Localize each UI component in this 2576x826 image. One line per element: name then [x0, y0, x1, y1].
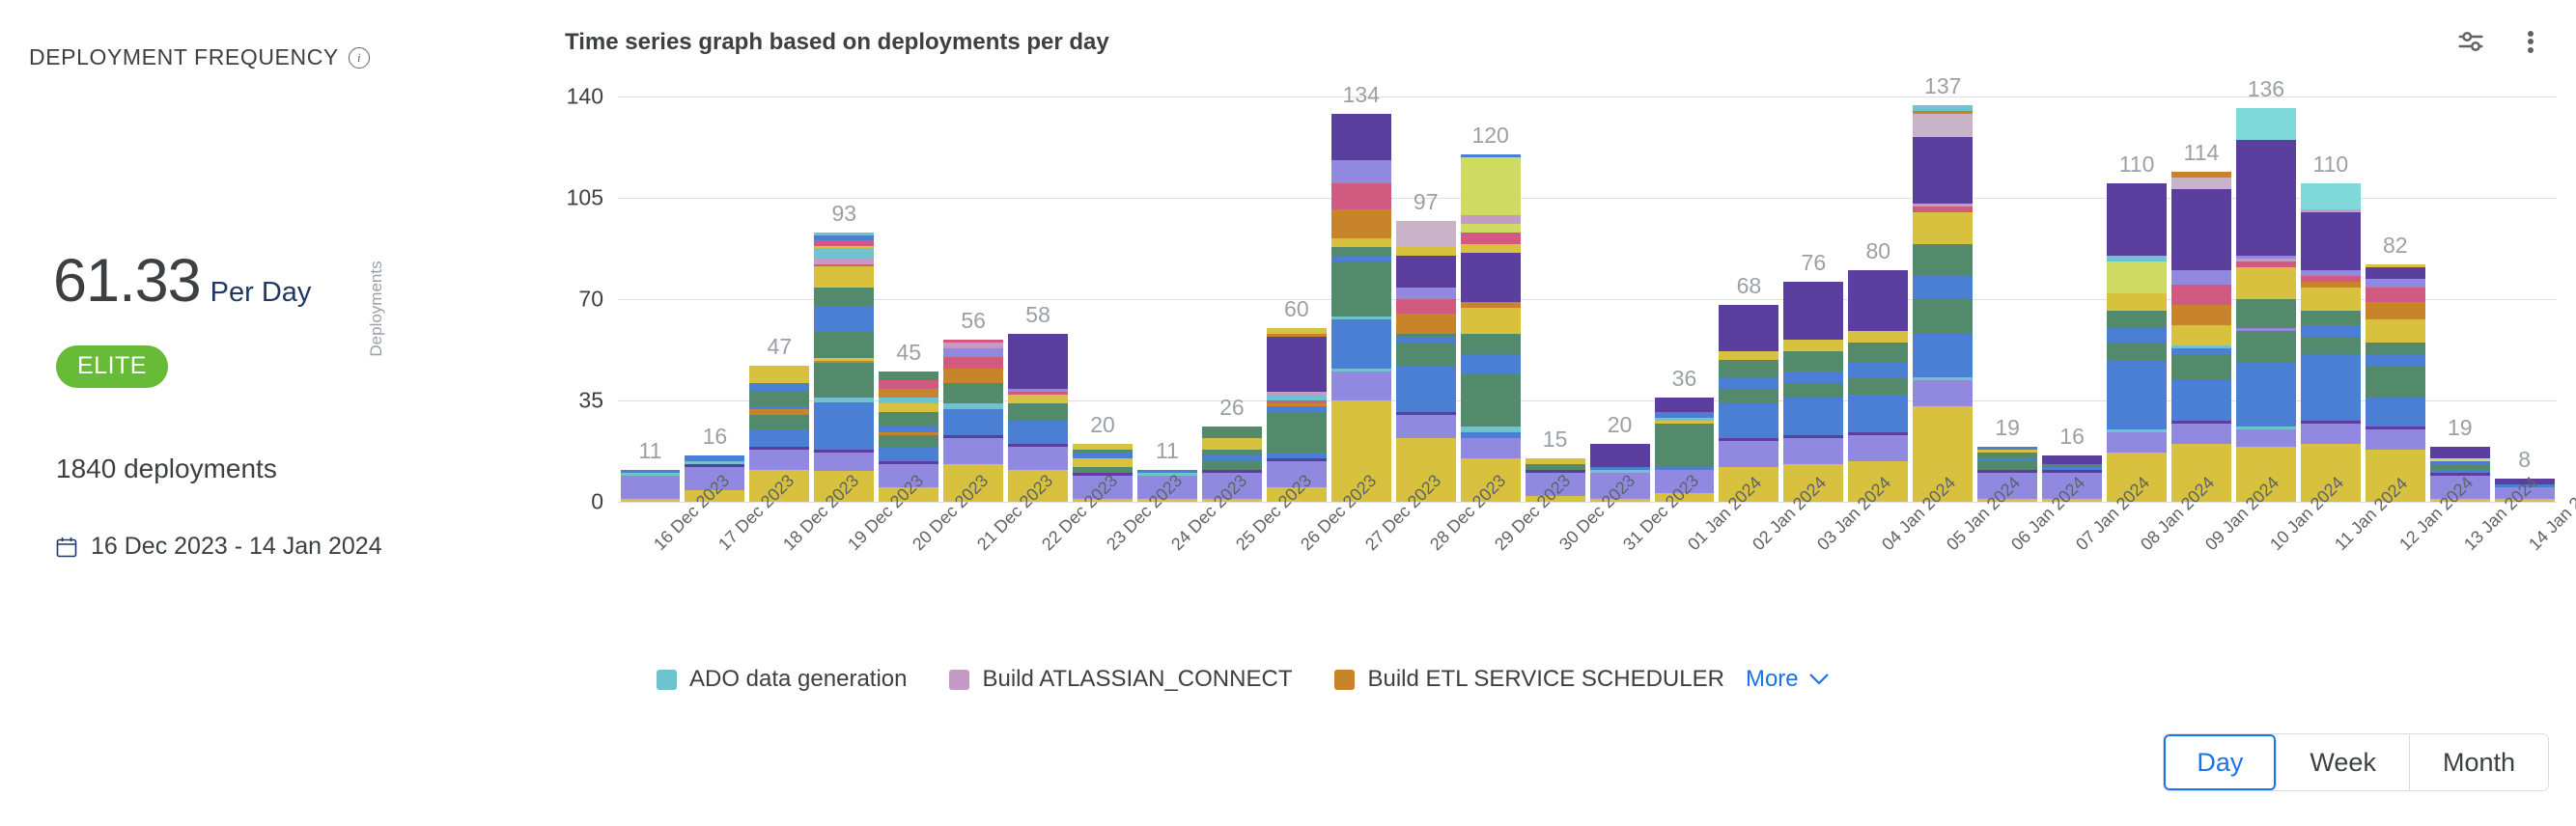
bar-segment: [879, 380, 938, 389]
bar-value-label: 58: [1006, 302, 1071, 328]
bar-segment: [1783, 398, 1843, 435]
bar-segment: [1461, 438, 1521, 458]
stacked-bar[interactable]: [1848, 270, 1908, 502]
legend-item[interactable]: Build ETL SERVICE SCHEDULER: [1334, 666, 1723, 693]
bar-segment: [1267, 412, 1327, 453]
y-axis-tick: 70: [410, 287, 603, 313]
bar-segment: [2107, 293, 2167, 311]
bar-column[interactable]: 137: [1911, 96, 1975, 502]
stacked-bar[interactable]: [621, 470, 681, 502]
bar-segment: [943, 438, 1003, 464]
bar-segment: [1783, 340, 1843, 351]
bar-segment: [2236, 108, 2296, 140]
bar-segment: [2366, 279, 2425, 288]
y-axis-title: Deployments: [367, 106, 386, 511]
bar-segment: [1461, 215, 1521, 224]
bar-value-label: 8: [2492, 447, 2557, 473]
chart-panel: Time series graph based on deployments p…: [541, 0, 2576, 826]
bar-segment: [1396, 221, 1456, 247]
bar-segment: [879, 435, 938, 447]
bar-segment: [1913, 137, 1973, 204]
bar-segment: [1396, 415, 1456, 438]
bar-segment: [2366, 302, 2425, 319]
bar-segment: [2107, 360, 2167, 429]
bar-segment: [1848, 435, 1908, 461]
bar-value-label: 97: [1393, 189, 1458, 215]
legend-label: Build ETL SERVICE SCHEDULER: [1367, 666, 1723, 693]
bar-segment: [2301, 311, 2361, 325]
bar-value-label: 56: [941, 308, 1006, 334]
legend: ADO data generationBuild ATLASSIAN_CONNE…: [657, 666, 1831, 693]
bar-segment: [943, 409, 1003, 435]
bar-value-label: 19: [2427, 415, 2492, 441]
bar-column[interactable]: 8: [2492, 96, 2557, 502]
y-axis-tick: 105: [410, 185, 603, 211]
bar-segment: [2301, 183, 2361, 209]
bar-segment: [2301, 325, 2361, 337]
bar-segment: [1719, 360, 1778, 377]
bar-column[interactable]: 76: [1781, 96, 1846, 502]
range-button-month[interactable]: Month: [2410, 734, 2548, 790]
bar-segment: [1461, 233, 1521, 244]
bar-column[interactable]: 134: [1329, 96, 1393, 502]
bar-column[interactable]: 58: [1006, 96, 1071, 502]
bar-segment: [1783, 383, 1843, 398]
bar-segment: [1008, 421, 1068, 444]
bar-column[interactable]: 68: [1717, 96, 1781, 502]
stacked-bar[interactable]: [2236, 108, 2296, 502]
bar-value-label: 26: [1199, 395, 1264, 421]
bar-value-label: 120: [1458, 123, 1523, 149]
bar-segment: [879, 403, 938, 412]
bar-segment: [749, 450, 809, 470]
page-title: DEPLOYMENT FREQUENCY: [29, 44, 339, 70]
range-button-day[interactable]: Day: [2164, 734, 2277, 790]
bar-segment: [1783, 351, 1843, 372]
bar-segment: [1848, 377, 1908, 395]
bar-column[interactable]: 47: [747, 96, 812, 502]
bar-value-label: 60: [1264, 296, 1329, 322]
bar-segment: [1977, 461, 2037, 470]
bar-value-label: 11: [1135, 438, 1200, 464]
stacked-bar[interactable]: [1396, 221, 1456, 502]
bar-segment: [1073, 458, 1133, 467]
bar-segment: [1590, 444, 1650, 467]
metric-unit: Per Day: [210, 277, 312, 309]
y-axis-tick: 140: [410, 84, 603, 110]
bar-column[interactable]: 45: [877, 96, 941, 502]
bar-segment: [1008, 447, 1068, 470]
bar-segment: [1202, 427, 1262, 438]
bar-segment: [814, 453, 874, 471]
bar-segment: [1913, 244, 1973, 276]
date-range[interactable]: 16 Dec 2023 - 14 Jan 2024: [56, 533, 382, 561]
bar-segment: [2366, 267, 2425, 279]
bar-segment: [2366, 366, 2425, 398]
bar-segment: [2107, 311, 2167, 328]
bar-segment: [2171, 178, 2231, 189]
bar-segment: [2171, 285, 2231, 305]
y-axis-tick: 35: [410, 388, 603, 414]
bar-segment: [1848, 395, 1908, 432]
bar-segment: [1202, 461, 1262, 470]
plot-area: 1116479345565820112660134971201520366876…: [618, 0, 2557, 826]
legend-label: ADO data generation: [689, 666, 907, 693]
bar-column[interactable]: 60: [1264, 96, 1329, 502]
bar-segment: [749, 383, 809, 392]
bar-segment: [1396, 314, 1456, 334]
bar-segment: [879, 447, 938, 461]
bar-column[interactable]: 15: [1523, 96, 1587, 502]
bar-segment: [2366, 288, 2425, 302]
status-badge: ELITE: [56, 345, 168, 388]
bar-segment: [749, 429, 809, 447]
metric-header: DEPLOYMENT FREQUENCY i: [29, 44, 370, 70]
bar-segment: [943, 348, 1003, 357]
bar-segment: [1913, 276, 1973, 299]
bar-segment: [2236, 299, 2296, 328]
bar-segment: [2236, 429, 2296, 447]
bar-segment: [1461, 374, 1521, 427]
legend-more-label: More: [1746, 666, 1799, 693]
bar-segment: [1783, 282, 1843, 340]
bar-segment: [2301, 337, 2361, 354]
bar-segment: [1008, 403, 1068, 421]
bar-segment: [1719, 305, 1778, 351]
bar-segment: [879, 372, 938, 380]
bar-segment: [1848, 270, 1908, 331]
bar-segment: [2301, 288, 2361, 311]
bar-segment: [814, 332, 874, 358]
range-button-week[interactable]: Week: [2277, 734, 2410, 790]
legend-more-button[interactable]: More: [1746, 666, 1831, 693]
bar-value-label: 19: [1975, 415, 2040, 441]
chevron-down-icon: [1807, 666, 1831, 693]
legend-swatch: [949, 670, 969, 690]
bar-segment: [2171, 270, 2231, 285]
bar-segment: [1331, 114, 1391, 160]
bar-value-label: 114: [2170, 140, 2234, 166]
y-axis: Deployments 03570105140: [357, 0, 603, 826]
bar-value-label: 93: [812, 201, 877, 227]
bar-value-label: 136: [2233, 76, 2298, 102]
range-toggle[interactable]: DayWeekMonth: [2163, 733, 2549, 791]
bar-segment: [2301, 424, 2361, 444]
bar-segment: [2171, 189, 2231, 270]
bar-segment: [1331, 160, 1391, 183]
bar-segment: [621, 499, 681, 502]
bar-value-label: 134: [1329, 82, 1393, 108]
bar-segment: [1913, 114, 1973, 137]
bar-value-label: 110: [2105, 151, 2170, 178]
bar-series: 1116479345565820112660134971201520366876…: [618, 96, 2557, 502]
bar-segment: [1848, 331, 1908, 343]
bar-segment: [1848, 363, 1908, 377]
bar-column[interactable]: 114: [2170, 96, 2234, 502]
bar-segment: [814, 288, 874, 306]
bar-segment: [2171, 305, 2231, 325]
bar-value-label: 45: [877, 340, 941, 366]
bar-segment: [2430, 447, 2490, 458]
bar-segment: [879, 412, 938, 427]
bar-segment: [814, 266, 874, 288]
bar-column[interactable]: 19: [2427, 96, 2492, 502]
bar-segment: [2107, 328, 2167, 343]
bar-segment: [1461, 253, 1521, 302]
bar-segment: [2366, 429, 2425, 450]
stacked-bar[interactable]: [2301, 183, 2361, 502]
bar-segment: [1331, 247, 1391, 256]
bar-segment: [814, 248, 874, 259]
bar-column[interactable]: 97: [1393, 96, 1458, 502]
bar-segment: [621, 476, 681, 499]
bar-segment: [879, 389, 938, 398]
bar-column[interactable]: 11: [618, 96, 683, 502]
bar-column[interactable]: 110: [2105, 96, 2170, 502]
bar-segment: [2171, 380, 2231, 421]
bar-segment: [749, 366, 809, 383]
bar-segment: [1719, 441, 1778, 467]
bar-value-label: 76: [1781, 250, 1846, 276]
bar-segment: [1783, 438, 1843, 464]
bar-segment: [1655, 424, 1715, 467]
bar-segment: [2107, 432, 2167, 453]
bar-segment: [2236, 140, 2296, 256]
bar-segment: [749, 392, 809, 406]
bar-segment: [1331, 372, 1391, 400]
bar-segment: [1719, 377, 1778, 389]
bar-value-label: 110: [2298, 151, 2363, 178]
bar-segment: [2301, 354, 2361, 421]
bar-segment: [749, 415, 809, 429]
bar-segment: [2171, 354, 2231, 380]
bar-segment: [814, 402, 874, 450]
bar-segment: [943, 369, 1003, 383]
bar-segment: [1396, 256, 1456, 288]
bar-column[interactable]: 16: [683, 96, 747, 502]
bar-column[interactable]: 20: [1071, 96, 1135, 502]
stacked-bar[interactable]: [2107, 183, 2167, 502]
bar-segment: [2236, 331, 2296, 363]
bar-segment: [1331, 238, 1391, 247]
stacked-bar[interactable]: [2171, 172, 2231, 502]
bar-column[interactable]: 20: [1587, 96, 1652, 502]
bar-segment: [1267, 337, 1327, 392]
y-axis-tick: 0: [410, 489, 603, 515]
bar-segment: [1719, 389, 1778, 403]
bar-segment: [1008, 334, 1068, 389]
bar-value-label: 47: [747, 334, 812, 360]
bar-column[interactable]: 110: [2298, 96, 2363, 502]
legend-item[interactable]: Build ATLASSIAN_CONNECT: [949, 666, 1292, 693]
deployments-count: 1840 deployments: [56, 454, 277, 484]
bar-segment: [1848, 343, 1908, 363]
stacked-bar[interactable]: [1719, 305, 1778, 502]
bar-segment: [1913, 380, 1973, 406]
bar-segment: [1913, 334, 1973, 377]
bar-segment: [2366, 343, 2425, 354]
bar-segment: [1719, 351, 1778, 360]
bar-segment: [2366, 398, 2425, 427]
bar-segment: [1331, 209, 1391, 238]
bar-segment: [1008, 395, 1068, 403]
calendar-icon: [56, 537, 77, 558]
bar-value-label: 80: [1846, 238, 1911, 264]
legend-item[interactable]: ADO data generation: [657, 666, 907, 693]
bar-segment: [1461, 308, 1521, 334]
bar-value-label: 68: [1717, 273, 1781, 299]
stacked-bar[interactable]: [1461, 154, 1521, 502]
bar-column[interactable]: 82: [2363, 96, 2427, 502]
legend-swatch: [1334, 670, 1355, 690]
bar-segment: [2171, 424, 2231, 444]
bar-segment: [1331, 319, 1391, 369]
bar-segment: [814, 363, 874, 397]
stacked-bar[interactable]: [2366, 264, 2425, 502]
bar-segment: [1396, 247, 1456, 256]
bar-segment: [1396, 299, 1456, 314]
bar-segment: [814, 306, 874, 332]
legend-label: Build ATLASSIAN_CONNECT: [982, 666, 1292, 693]
bar-segment: [2366, 319, 2425, 343]
bar-segment: [1331, 262, 1391, 317]
bar-column[interactable]: 26: [1199, 96, 1264, 502]
bar-column[interactable]: 80: [1846, 96, 1911, 502]
bar-segment: [2171, 325, 2231, 345]
bar-column[interactable]: 56: [941, 96, 1006, 502]
bar-column[interactable]: 93: [812, 96, 877, 502]
bar-segment: [1202, 438, 1262, 450]
bar-segment: [2107, 343, 2167, 360]
date-range-text: 16 Dec 2023 - 14 Jan 2024: [91, 533, 382, 561]
bar-value-label: 20: [1587, 412, 1652, 438]
bar-segment: [1396, 343, 1456, 366]
stacked-bar[interactable]: [814, 233, 874, 502]
bar-segment: [2236, 267, 2296, 299]
legend-swatch: [657, 670, 677, 690]
bar-column[interactable]: 136: [2233, 96, 2298, 502]
bar-segment: [1396, 288, 1456, 299]
bar-column[interactable]: 19: [1975, 96, 2040, 502]
bar-segment: [2107, 183, 2167, 256]
bar-segment: [1396, 366, 1456, 406]
bar-column[interactable]: 11: [1135, 96, 1200, 502]
bar-segment: [1461, 244, 1521, 253]
bar-value-label: 15: [1523, 427, 1587, 453]
bar-segment: [1719, 403, 1778, 438]
bar-value-label: 16: [2040, 424, 2105, 450]
bar-segment: [2301, 212, 2361, 270]
stacked-bar[interactable]: [1783, 282, 1843, 502]
bar-value-label: 82: [2363, 233, 2427, 259]
bar-column[interactable]: 16: [2040, 96, 2105, 502]
bar-value-label: 36: [1652, 366, 1717, 392]
bar-segment: [1783, 372, 1843, 383]
bar-segment: [1461, 157, 1521, 215]
bar-value-label: 20: [1071, 412, 1135, 438]
bar-segment: [1461, 334, 1521, 354]
plot-wrap: Deployments 03570105140 1116479345565820…: [541, 0, 2576, 826]
bar-segment: [943, 383, 1003, 403]
bar-segment: [1461, 224, 1521, 233]
bar-segment: [1331, 183, 1391, 209]
bar-segment: [2236, 363, 2296, 427]
bar-segment: [2107, 262, 2167, 293]
bar-segment: [943, 357, 1003, 369]
metric-value: 61.33: [53, 246, 201, 316]
bar-value-label: 137: [1911, 73, 1975, 99]
bar-value-label: 16: [683, 424, 747, 450]
bar-segment: [1913, 212, 1973, 244]
bar-segment: [2366, 354, 2425, 366]
stacked-bar[interactable]: [1913, 105, 1973, 502]
metric-value-row: 61.33 Per Day: [53, 246, 311, 316]
bar-column[interactable]: 36: [1652, 96, 1717, 502]
bar-segment: [2042, 455, 2102, 464]
bar-value-label: 11: [618, 438, 683, 464]
bar-column[interactable]: 120: [1458, 96, 1523, 502]
bar-segment: [1655, 398, 1715, 412]
stacked-bar[interactable]: [1331, 114, 1391, 502]
bar-segment: [1461, 354, 1521, 374]
bar-segment: [1913, 299, 1973, 334]
